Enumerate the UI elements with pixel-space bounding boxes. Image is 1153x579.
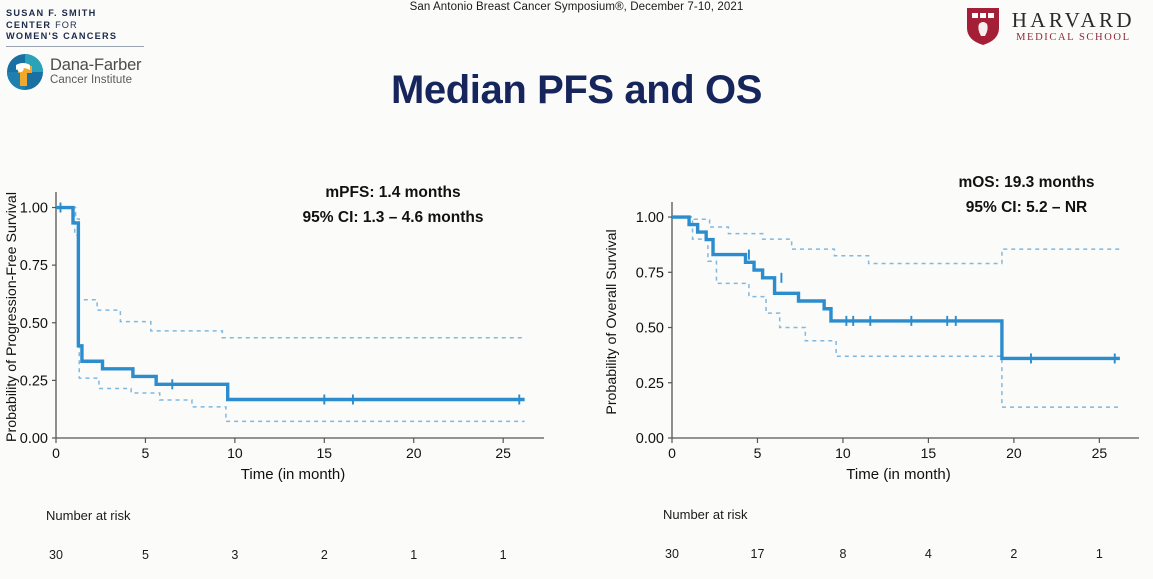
- y-tick-label: 0.50: [636, 321, 664, 337]
- km-plot-svg: 0.000.250.500.751.000510152025Time (in m…: [0, 150, 576, 500]
- harvard-medical-school-logo: HARVARD MEDICAL SCHOOL: [965, 6, 1135, 46]
- harvard-shield-icon: [965, 6, 1001, 46]
- km-curve: [672, 217, 1120, 358]
- pfs-panel: mPFS: 1.4 months 95% CI: 1.3 – 4.6 month…: [0, 150, 576, 579]
- risk-count-cell: 4: [913, 547, 943, 561]
- ssc-line-3: WOMEN'S CANCERS: [6, 31, 186, 43]
- logo-divider: [6, 46, 144, 47]
- y-axis-label: Probability of Progression-Free Survival: [4, 192, 20, 442]
- x-tick-label: 15: [317, 445, 333, 461]
- risk-count-cell: 5: [130, 548, 160, 562]
- y-axis-label: Probability of Overall Survival: [604, 229, 620, 414]
- risk-count-cell: 2: [999, 547, 1029, 561]
- risk-count-cell: 8: [828, 547, 858, 561]
- km-curve: [56, 208, 525, 400]
- os-risk-table-title: Number at risk: [663, 507, 748, 522]
- x-tick-label: 15: [921, 445, 937, 461]
- km-confidence-band: [672, 217, 1120, 263]
- km-confidence-band: [672, 217, 1120, 407]
- y-tick-label: 0.25: [20, 373, 48, 389]
- x-axis-label: Time (in month): [846, 466, 950, 483]
- ssc-line-2: CENTER FOR: [6, 20, 186, 32]
- risk-count-cell: 2: [309, 548, 339, 562]
- km-confidence-band: [56, 208, 525, 422]
- page-title: Median PFS and OS: [0, 68, 1153, 113]
- y-tick-label: 1.00: [636, 210, 664, 226]
- ssc-line-1: SUSAN F. SMITH: [6, 8, 186, 20]
- y-tick-label: 0.75: [636, 265, 664, 281]
- risk-count-cell: 1: [488, 548, 518, 562]
- y-tick-label: 0.00: [20, 431, 48, 447]
- x-tick-label: 10: [835, 445, 851, 461]
- risk-count-cell: 3: [220, 548, 250, 562]
- x-axis-label: Time (in month): [241, 466, 345, 483]
- x-tick-label: 0: [668, 445, 676, 461]
- ssc-for-word: FOR: [55, 20, 78, 30]
- os-kaplan-meier-chart: 0.000.250.500.751.000510152025Time (in m…: [600, 150, 1153, 500]
- x-tick-label: 20: [1006, 445, 1022, 461]
- x-tick-label: 10: [227, 445, 243, 461]
- y-tick-label: 0.50: [20, 316, 48, 332]
- y-tick-label: 0.25: [636, 376, 664, 392]
- y-tick-label: 0.00: [636, 431, 664, 447]
- pfs-kaplan-meier-chart: 0.000.250.500.751.000510152025Time (in m…: [0, 150, 576, 500]
- harvard-wordmark: HARVARD MEDICAL SCHOOL: [1012, 9, 1135, 44]
- y-tick-label: 0.75: [20, 258, 48, 274]
- x-tick-label: 25: [1092, 445, 1108, 461]
- harvard-name: HARVARD: [1012, 9, 1135, 31]
- risk-count-cell: 1: [399, 548, 429, 562]
- y-tick-label: 1.00: [20, 201, 48, 217]
- x-tick-label: 0: [52, 445, 60, 461]
- ssc-center-word: CENTER: [6, 20, 51, 30]
- risk-count-cell: 30: [657, 547, 687, 561]
- pfs-risk-table-title: Number at risk: [46, 508, 131, 523]
- risk-count-cell: 1: [1084, 547, 1114, 561]
- os-panel: mOS: 19.3 months 95% CI: 5.2 – NR 0.000.…: [600, 150, 1153, 579]
- risk-count-cell: 30: [41, 548, 71, 562]
- km-confidence-band: [56, 208, 525, 338]
- presentation-slide: San Antonio Breast Cancer Symposium®, De…: [0, 0, 1153, 579]
- harvard-subtitle: MEDICAL SCHOOL: [1012, 31, 1135, 44]
- x-tick-label: 25: [495, 445, 511, 461]
- km-plot-svg: 0.000.250.500.751.000510152025Time (in m…: [600, 150, 1153, 500]
- x-tick-label: 20: [406, 445, 422, 461]
- x-tick-label: 5: [754, 445, 762, 461]
- x-tick-label: 5: [142, 445, 150, 461]
- risk-count-cell: 17: [742, 547, 772, 561]
